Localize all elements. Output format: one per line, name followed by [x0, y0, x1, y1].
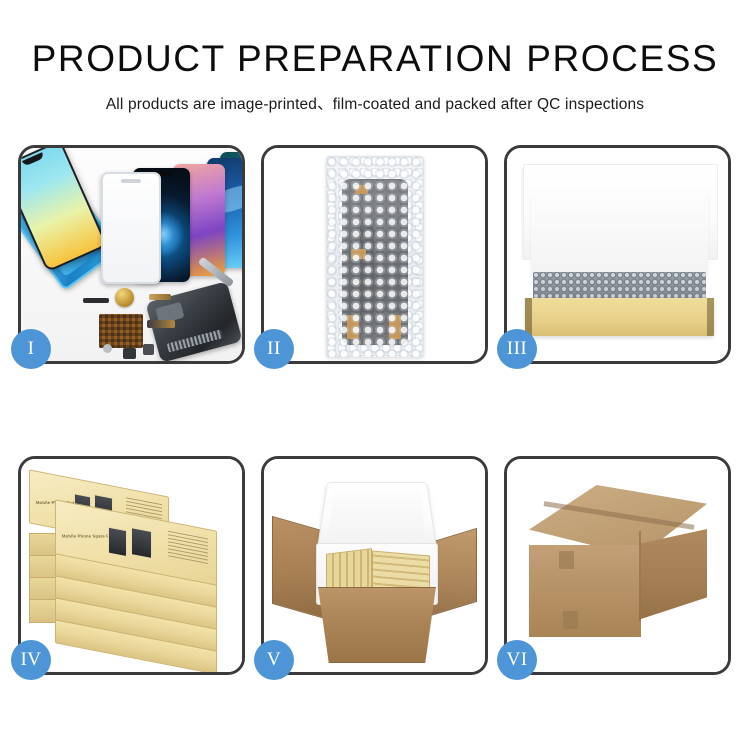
box-chip-front-2: [131, 527, 152, 559]
tape-bottom-left: [347, 315, 359, 339]
carton-front-face: [529, 545, 641, 637]
step-6-image: [507, 459, 728, 672]
bubble-wrap-scene: [264, 148, 485, 361]
stacked-boxes-scene: Mobile Phone Spare Parts Mobile Phone Sp…: [21, 459, 242, 672]
open-kraft-box-scene: [507, 148, 728, 361]
carton-tape-lower: [563, 611, 578, 629]
step-4-image: Mobile Phone Spare Parts Mobile Phone Sp…: [21, 459, 242, 672]
step-badge-6: VI: [497, 640, 537, 680]
sealed-carton-scene: [507, 459, 728, 672]
tape-bottom-right: [389, 315, 401, 339]
process-step-panel-2[interactable]: II: [261, 145, 488, 364]
page-subtitle: All products are image-printed、film-coat…: [0, 80, 750, 114]
flex-cable-c: [147, 320, 175, 328]
kraft-box-base: [525, 298, 714, 336]
phone-parts-scene: [21, 148, 242, 361]
step-3-image: [507, 148, 728, 361]
white-glass-panel: [101, 172, 161, 284]
step-badge-4: IV: [11, 640, 51, 680]
process-step-panel-5[interactable]: V: [261, 456, 488, 675]
component-grid: [99, 314, 143, 348]
step-badge-1: I: [11, 329, 51, 369]
page-header: PRODUCT PREPARATION PROCESS All products…: [0, 0, 750, 114]
process-step-panel-4[interactable]: Mobile Phone Spare Parts Mobile Phone Sp…: [18, 456, 245, 675]
step-1-image: [21, 148, 242, 361]
step-badge-2: II: [254, 329, 294, 369]
step-badge-3: III: [497, 329, 537, 369]
step-5-image: [264, 459, 485, 672]
flex-cable-b: [149, 294, 171, 300]
page-title: PRODUCT PREPARATION PROCESS: [0, 0, 750, 80]
carton-vertical-edge: [639, 531, 641, 621]
foam-lined-carton-scene: [264, 459, 485, 672]
speaker-part: [103, 344, 112, 353]
process-step-panel-1[interactable]: I: [18, 145, 245, 364]
tape-top: [355, 185, 368, 194]
camera-module: [123, 348, 136, 359]
carton-body: [310, 587, 444, 663]
step-2-image: [264, 148, 485, 361]
foam-sheet: [531, 192, 708, 276]
step-badge-5: V: [254, 640, 294, 680]
vibration-motor: [115, 288, 134, 307]
process-step-grid: I II: [18, 145, 732, 675]
carton-side-face: [641, 529, 707, 619]
box-spec-lines-front: [168, 528, 208, 564]
flex-cable-a: [83, 298, 109, 303]
small-component: [143, 344, 154, 355]
process-step-panel-3[interactable]: III: [504, 145, 731, 364]
bubble-wrap-bag: [326, 156, 424, 358]
tape-middle: [351, 249, 366, 259]
process-step-panel-6[interactable]: VI: [504, 456, 731, 675]
carton-tape-upper: [559, 551, 574, 569]
box-chip-front-1: [108, 527, 127, 558]
